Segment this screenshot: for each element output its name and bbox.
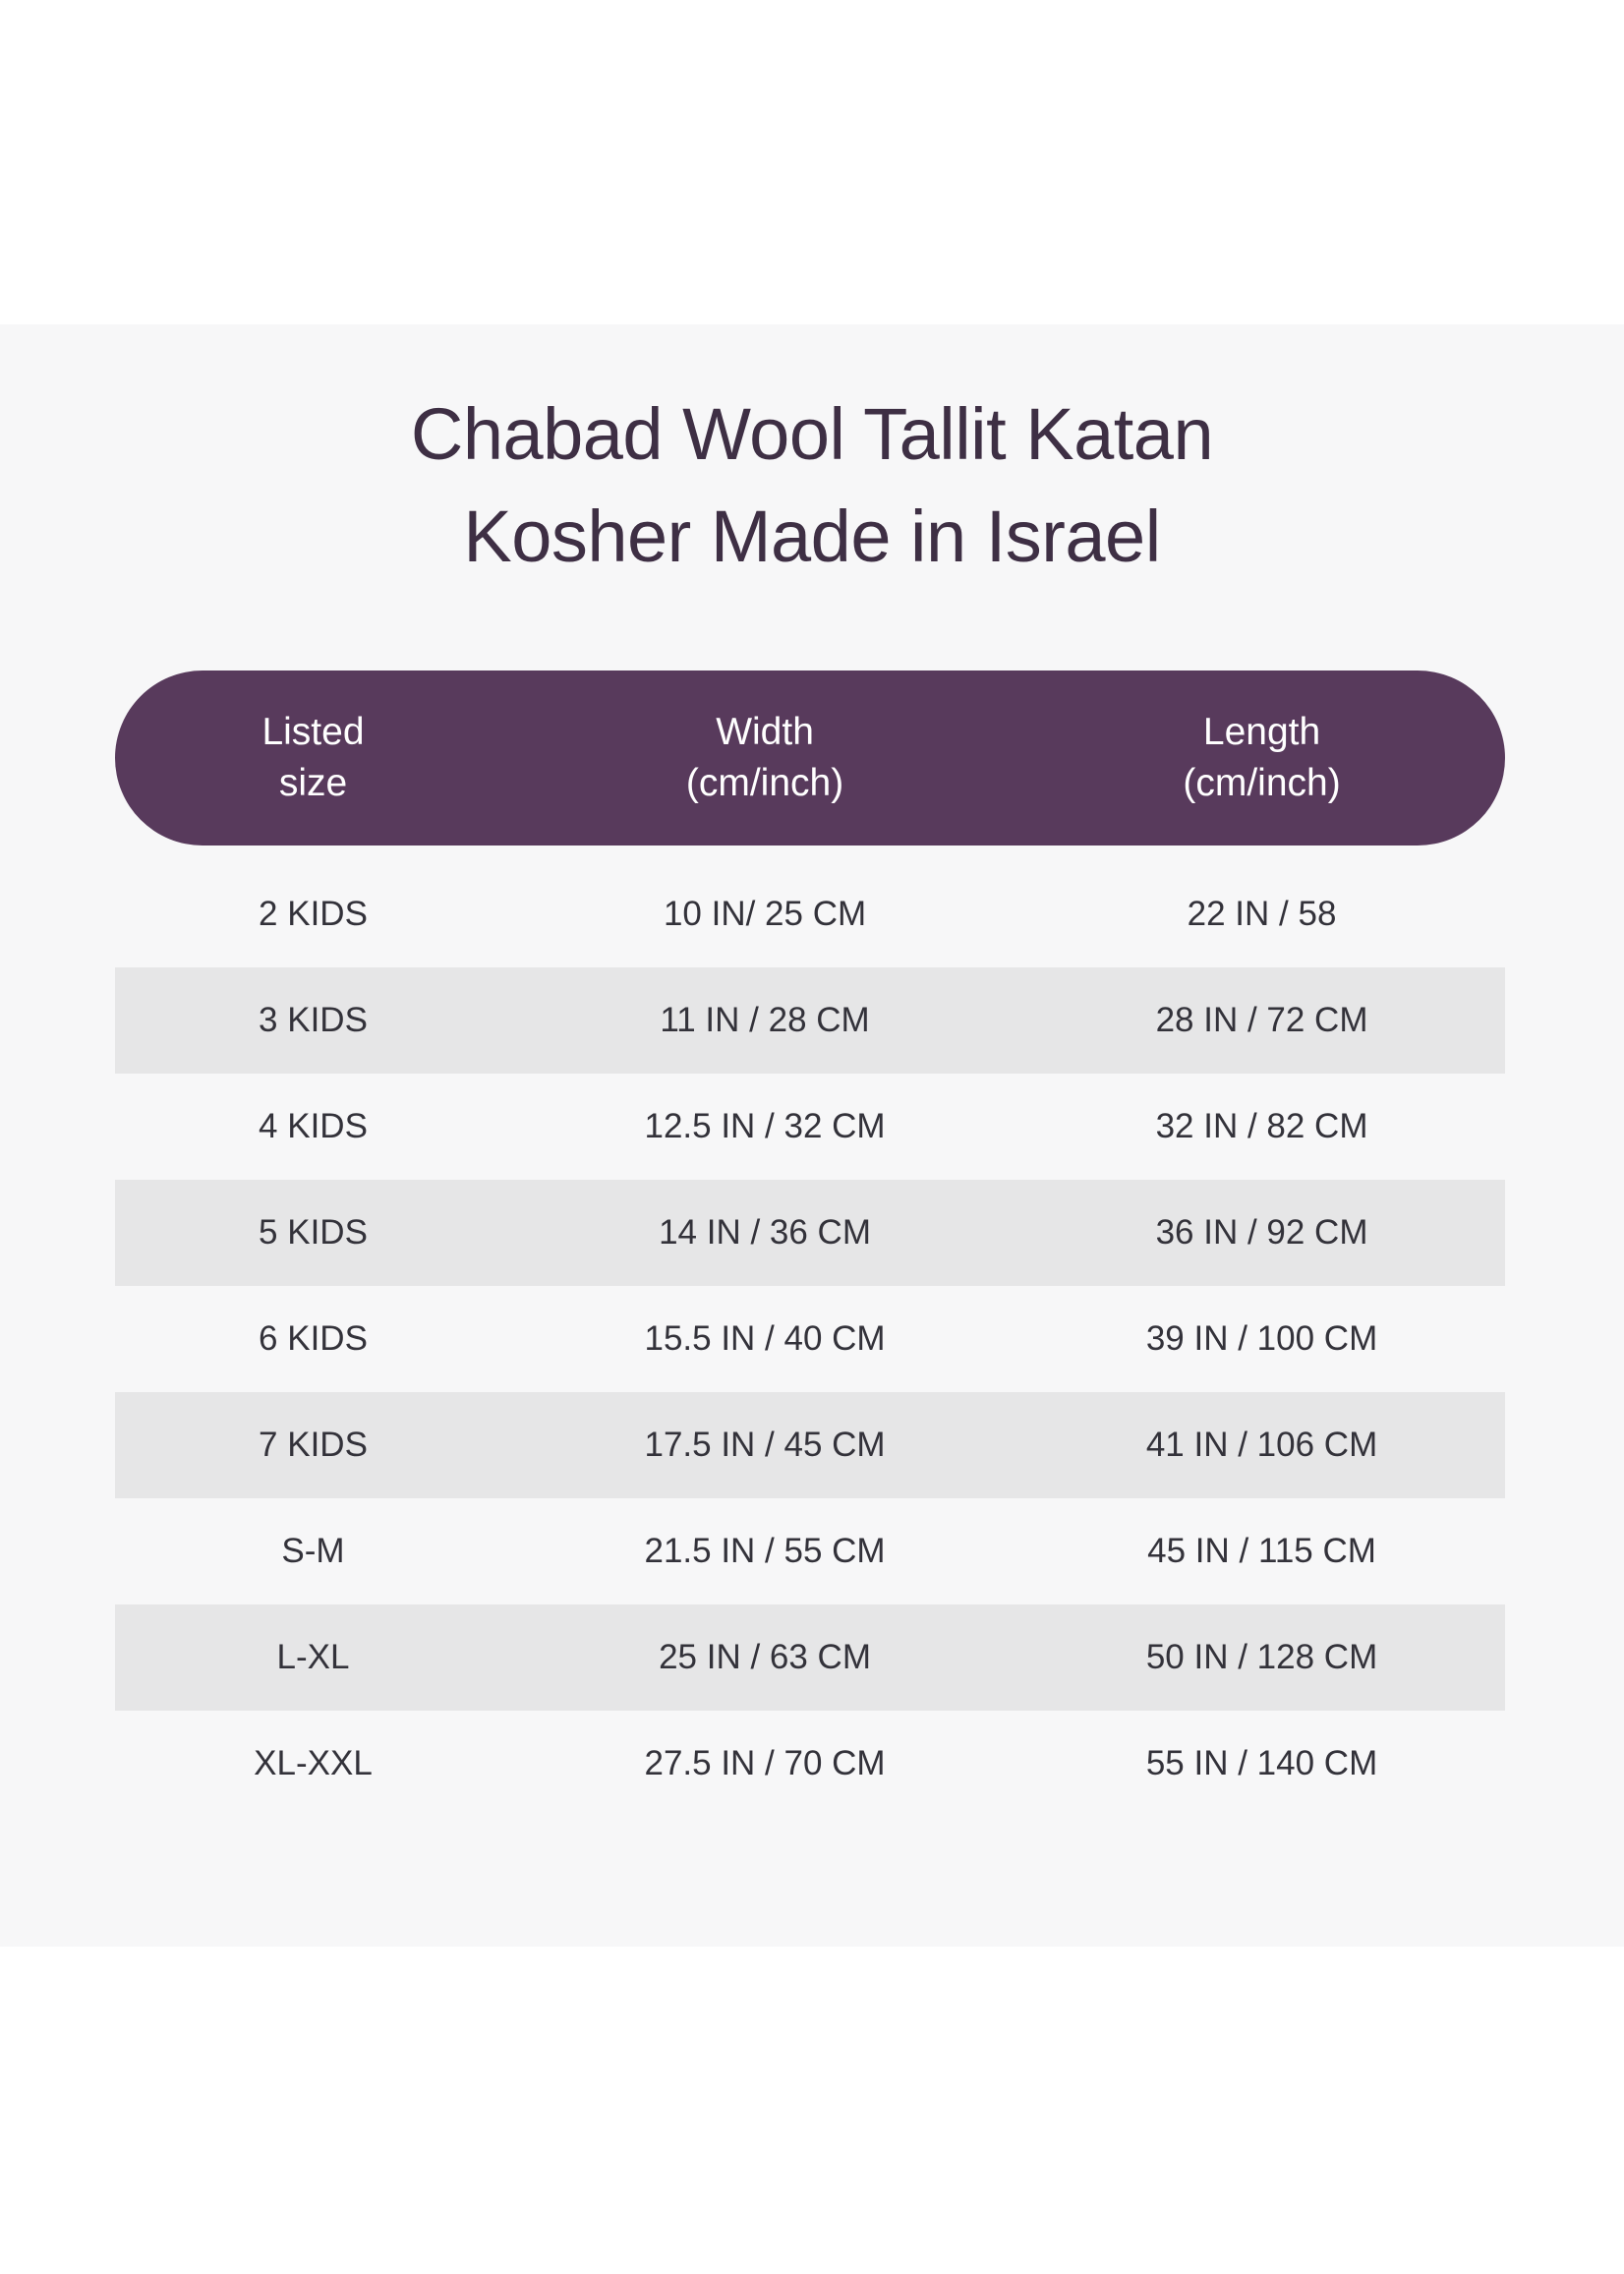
cell-length: 55 IN / 140 CM	[1018, 1742, 1505, 1785]
column-header-length-line1: Length	[1203, 711, 1320, 753]
cell-length: 50 IN / 128 CM	[1018, 1636, 1505, 1679]
title-line-1: Chabad Wool Tallit Katan	[0, 383, 1624, 486]
cell-size: 3 KIDS	[115, 999, 511, 1042]
table-row: 5 KIDS 14 IN / 36 CM 36 IN / 92 CM	[115, 1180, 1505, 1286]
cell-width: 25 IN / 63 CM	[511, 1636, 1018, 1679]
cell-width: 21.5 IN / 55 CM	[511, 1530, 1018, 1573]
cell-length: 32 IN / 82 CM	[1018, 1105, 1505, 1148]
cell-length: 41 IN / 106 CM	[1018, 1424, 1505, 1467]
cell-length: 28 IN / 72 CM	[1018, 999, 1505, 1042]
column-header-listed-size-line1: Listed	[261, 711, 364, 753]
size-chart-table-body: 2 KIDS 10 IN/ 25 CM 22 IN / 58 3 KIDS 11…	[115, 861, 1505, 1817]
column-header-width-line2: (cm/inch)	[511, 758, 1018, 809]
table-row: 7 KIDS 17.5 IN / 45 CM 41 IN / 106 CM	[115, 1392, 1505, 1498]
page-title: Chabad Wool Tallit Katan Kosher Made in …	[0, 383, 1624, 588]
cell-size: 4 KIDS	[115, 1105, 511, 1148]
table-row: 4 KIDS 12.5 IN / 32 CM 32 IN / 82 CM	[115, 1074, 1505, 1180]
table-row: 3 KIDS 11 IN / 28 CM 28 IN / 72 CM	[115, 967, 1505, 1074]
cell-length: 36 IN / 92 CM	[1018, 1211, 1505, 1254]
column-header-listed-size-line2: size	[115, 758, 511, 809]
cell-length: 39 IN / 100 CM	[1018, 1317, 1505, 1361]
cell-size: 5 KIDS	[115, 1211, 511, 1254]
cell-width: 12.5 IN / 32 CM	[511, 1105, 1018, 1148]
table-row: S-M 21.5 IN / 55 CM 45 IN / 115 CM	[115, 1498, 1505, 1604]
cell-width: 27.5 IN / 70 CM	[511, 1742, 1018, 1785]
cell-size: 7 KIDS	[115, 1424, 511, 1467]
cell-length: 22 IN / 58	[1018, 893, 1505, 936]
cell-size: L-XL	[115, 1636, 511, 1679]
table-row: 2 KIDS 10 IN/ 25 CM 22 IN / 58	[115, 861, 1505, 967]
column-header-length-line2: (cm/inch)	[1018, 758, 1505, 809]
cell-width: 11 IN / 28 CM	[511, 999, 1018, 1042]
column-header-listed-size: Listed size	[115, 707, 511, 809]
column-header-width-line1: Width	[716, 711, 814, 753]
table-header-pill: Listed size Width (cm/inch) Length (cm/i…	[115, 671, 1505, 845]
table-row: L-XL 25 IN / 63 CM 50 IN / 128 CM	[115, 1604, 1505, 1711]
title-line-2: Kosher Made in Israel	[0, 486, 1624, 588]
cell-size: S-M	[115, 1530, 511, 1573]
column-header-length: Length (cm/inch)	[1018, 707, 1505, 809]
cell-size: XL-XXL	[115, 1742, 511, 1785]
table-row: XL-XXL 27.5 IN / 70 CM 55 IN / 140 CM	[115, 1711, 1505, 1817]
cell-width: 15.5 IN / 40 CM	[511, 1317, 1018, 1361]
cell-size: 2 KIDS	[115, 893, 511, 936]
column-header-width: Width (cm/inch)	[511, 707, 1018, 809]
cell-width: 17.5 IN / 45 CM	[511, 1424, 1018, 1467]
table-header-row: Listed size Width (cm/inch) Length (cm/i…	[115, 671, 1505, 845]
cell-size: 6 KIDS	[115, 1317, 511, 1361]
size-chart-page: Chabad Wool Tallit Katan Kosher Made in …	[0, 0, 1624, 2274]
cell-width: 10 IN/ 25 CM	[511, 893, 1018, 936]
cell-width: 14 IN / 36 CM	[511, 1211, 1018, 1254]
table-row: 6 KIDS 15.5 IN / 40 CM 39 IN / 100 CM	[115, 1286, 1505, 1392]
cell-length: 45 IN / 115 CM	[1018, 1530, 1505, 1573]
size-chart-card: Chabad Wool Tallit Katan Kosher Made in …	[0, 324, 1624, 1947]
